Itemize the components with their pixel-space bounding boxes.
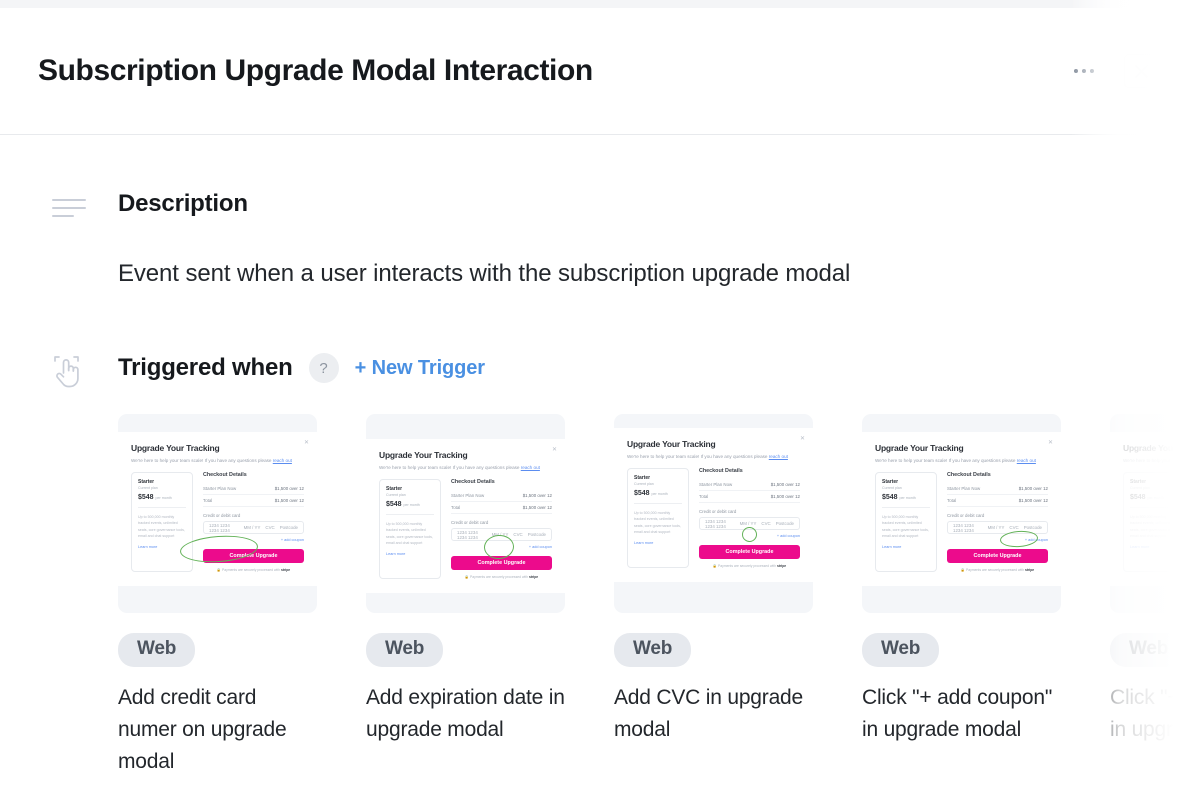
- plan-features: Up to 500,000 monthly tracked events, un…: [386, 521, 434, 546]
- thumbnail-modal-title: Upgrade Your Tracking: [131, 443, 304, 453]
- thumbnail-modal-subtitle: We're here to help your team scale! If y…: [627, 453, 800, 460]
- card-field: 1234 1234 1234 1234 MM / YY CVC Postcode: [451, 528, 552, 541]
- dot: [1082, 69, 1086, 73]
- card-field: 1234 1234 1234 1234 MM / YY CVC Postcode: [203, 521, 304, 534]
- header-actions: [1064, 54, 1158, 88]
- card-zip-input: Postcode: [528, 532, 546, 537]
- platform-badge: Web: [1110, 633, 1187, 667]
- help-icon[interactable]: ?: [309, 353, 339, 383]
- plan-price: $548 per month: [882, 494, 930, 501]
- thumbnail-modal-subtitle: We're here to help your team scale! If y…: [1123, 457, 1190, 464]
- stripe-footer-note: 🔒 Payments are securely processed with s…: [203, 568, 304, 572]
- trigger-thumbnail[interactable]: ✕ Upgrade Your Tracking We're here to he…: [862, 414, 1061, 613]
- checkout-heading: Checkout Details: [947, 472, 1048, 478]
- row-label: Starter Plan Now: [947, 486, 980, 491]
- row-label: Starter Plan Now: [451, 493, 484, 498]
- card-field-label: Credit or debit card: [947, 513, 1048, 518]
- plan-note: Current plan: [634, 482, 682, 486]
- add-coupon-link: + add coupon: [203, 538, 304, 542]
- plan-note: Current plan: [882, 486, 930, 490]
- row-value: $1,500 over 12: [523, 493, 552, 498]
- row-value: $1,500 over 12: [275, 498, 304, 503]
- ellipsis-icon[interactable]: [1064, 54, 1104, 88]
- card-number-input: 1234 1234 1234 1234: [457, 530, 487, 540]
- thumbnail-modal-title: Upgrade Your Tracking: [379, 450, 552, 460]
- description-text[interactable]: Event sent when a user interacts with th…: [118, 258, 1190, 290]
- plan-features: Up to 500,000 monthly tracked events, un…: [634, 510, 682, 535]
- card-cvc-input: CVC: [1009, 525, 1018, 530]
- thumbnail-plan-card: Starter Current plan $548 per month Up t…: [875, 472, 937, 572]
- checkout-row: Total$1,500 over 12: [203, 495, 304, 507]
- card-field-label: Credit or debit card: [451, 520, 552, 525]
- row-label: Starter Plan Now: [203, 486, 236, 491]
- card-exp-input: MM / YY: [740, 521, 757, 526]
- plan-features: Up to 500,000 monthly tracked events, un…: [882, 514, 930, 539]
- card-number-input: 1234 1234 1234 1234: [705, 519, 735, 529]
- reach-out-link: reach out: [769, 454, 788, 459]
- add-coupon-link: + add coupon: [451, 545, 552, 549]
- checkout-row: Total$1,500 over 12: [699, 491, 800, 503]
- thumbnail-close-icon: ✕: [800, 436, 805, 442]
- checkout-row: Starter Plan Now$1,500 over 12: [203, 483, 304, 495]
- card-cvc-input: CVC: [265, 525, 274, 530]
- checkout-row: Total$1,500 over 12: [947, 495, 1048, 507]
- window-top-strip: [0, 0, 1190, 8]
- trigger-card[interactable]: ✕ Upgrade Your Tracking We're here to he…: [614, 414, 813, 778]
- checkout-heading: Checkout Details: [203, 472, 304, 478]
- trigger-cards-row[interactable]: ✕ Upgrade Your Tracking We're here to he…: [118, 414, 1190, 778]
- line: [52, 215, 74, 217]
- checkout-heading: Checkout Details: [699, 468, 800, 474]
- trigger-thumbnail[interactable]: ✕ Upgrade Your Tracking We're here to he…: [118, 414, 317, 613]
- row-value: $1,500 over 12: [275, 486, 304, 491]
- row-value: $1,500 over 12: [523, 505, 552, 510]
- card-exp-input: MM / YY: [492, 532, 509, 537]
- stripe-footer-note: 🔒 Payments are securely processed with s…: [451, 575, 552, 579]
- close-button[interactable]: [1124, 54, 1158, 88]
- divider: [386, 514, 434, 515]
- row-label: Total: [203, 498, 212, 503]
- trigger-label: Click "+ add coupon" in upgrade modal: [862, 682, 1061, 746]
- row-label: Total: [699, 494, 708, 499]
- close-icon: [1134, 64, 1149, 79]
- plan-price: $548 per month: [634, 490, 682, 497]
- plan-price: $548 per month: [138, 494, 186, 501]
- triggers-heading-row: Triggered when ? + New Trigger: [118, 352, 1190, 384]
- line: [52, 199, 86, 201]
- reach-out-link: reach out: [521, 465, 540, 470]
- plan-features: Up to 500,000 monthly tracked events, un…: [1130, 514, 1178, 539]
- divider: [882, 507, 930, 508]
- plan-learn-more-link: Learn more: [138, 545, 186, 549]
- stripe-footer-note: 🔒 Payments are securely processed with s…: [947, 568, 1048, 572]
- trigger-card[interactable]: ✕ Upgrade Your Tracking We're here to he…: [862, 414, 1061, 778]
- thumbnail-modal-title: Upgrade Your Tracking: [627, 439, 800, 449]
- trigger-label: Add credit card numer on upgrade modal: [118, 682, 317, 778]
- page-title: Subscription Upgrade Modal Interaction: [38, 53, 1064, 89]
- checkout-row: Starter Plan Now$1,500 over 12: [699, 479, 800, 491]
- line: [52, 207, 86, 209]
- trigger-label: Add expiration date in upgrade modal: [366, 682, 565, 746]
- trigger-card[interactable]: ✕ Upgrade Your Tracking We're here to he…: [118, 414, 317, 778]
- thumbnail-modal-subtitle: We're here to help your team scale! If y…: [379, 464, 552, 471]
- complete-upgrade-button: Complete Upgrade: [203, 549, 304, 563]
- plan-features: Up to 500,000 monthly tracked events, un…: [138, 514, 186, 539]
- card-zip-input: Postcode: [280, 525, 298, 530]
- checkout-row: Starter Plan Now$1,500 over 12: [451, 490, 552, 502]
- plan-note: Current plan: [138, 486, 186, 490]
- description-section: Description Event sent when a user inter…: [0, 188, 1190, 290]
- description-heading: Description: [118, 188, 1190, 220]
- plan-learn-more-link: Learn more: [882, 545, 930, 549]
- reach-out-link: reach out: [1017, 458, 1036, 463]
- card-exp-input: MM / YY: [988, 525, 1005, 530]
- add-coupon-link: + add coupon: [699, 534, 800, 538]
- triggers-section: Triggered when ? + New Trigger ✕ Upgrade…: [0, 352, 1190, 778]
- new-trigger-button[interactable]: + New Trigger: [355, 357, 485, 380]
- thumbnail-modal-subtitle: We're here to help your team scale! If y…: [875, 457, 1048, 464]
- thumbnail-modal-subtitle: We're here to help your team scale! If y…: [131, 457, 304, 464]
- dot: [1074, 69, 1078, 73]
- plan-name: Starter: [386, 486, 434, 492]
- plan-name: Starter: [1130, 479, 1178, 485]
- complete-upgrade-button: Complete Upgrade: [947, 549, 1048, 563]
- plan-note: Current plan: [386, 493, 434, 497]
- triggers-heading: Triggered when: [118, 352, 293, 384]
- thumbnail-close-icon: ✕: [552, 447, 557, 453]
- checkout-row: Total$1,500 over 12: [451, 502, 552, 514]
- row-value: $1,500 over 12: [1019, 486, 1048, 491]
- divider: [634, 503, 682, 504]
- trigger-label: Click "+ add coupon" in upgrade modal: [1110, 682, 1190, 746]
- thumbnail-plan-card: Starter Current plan $548 per month Up t…: [1123, 472, 1185, 572]
- plan-note: Current plan: [1130, 486, 1178, 490]
- thumbnail-modal: ✕ Upgrade Your Tracking We're here to he…: [1110, 432, 1190, 586]
- card-field-label: Credit or debit card: [203, 513, 304, 518]
- trigger-card[interactable]: ✕ Upgrade Your Tracking We're here to he…: [366, 414, 565, 778]
- thumbnail-close-icon: ✕: [304, 440, 309, 446]
- row-label: Starter Plan Now: [699, 482, 732, 487]
- thumbnail-modal: ✕ Upgrade Your Tracking We're here to he…: [614, 428, 813, 582]
- row-label: Total: [947, 498, 956, 503]
- card-field-label: Credit or debit card: [699, 509, 800, 514]
- row-label: Total: [451, 505, 460, 510]
- plan-name: Starter: [634, 475, 682, 481]
- checkout-row: Starter Plan Now$1,500 over 12: [947, 483, 1048, 495]
- card-field: 1234 1234 1234 1234 MM / YY CVC Postcode: [699, 517, 800, 530]
- thumbnail-plan-card: Starter Current plan $548 per month Up t…: [379, 479, 441, 579]
- complete-upgrade-button: Complete Upgrade: [451, 556, 552, 570]
- platform-badge: Web: [366, 633, 443, 667]
- stripe-footer-note: 🔒 Payments are securely processed with s…: [699, 564, 800, 568]
- card-zip-input: Postcode: [776, 521, 794, 526]
- card-zip-input: Postcode: [1024, 525, 1042, 530]
- plan-learn-more-link: Learn more: [1130, 545, 1178, 549]
- trigger-detail-page: Subscription Upgrade Modal Interaction: [0, 0, 1190, 808]
- card-number-input: 1234 1234 1234 1234: [953, 523, 983, 533]
- row-value: $1,500 over 12: [771, 482, 800, 487]
- plan-price: $548 per month: [386, 501, 434, 508]
- card-field: 1234 1234 1234 1234 MM / YY CVC Postcode: [947, 521, 1048, 534]
- thumbnail-modal: ✕ Upgrade Your Tracking We're here to he…: [366, 439, 565, 593]
- thumbnail-modal: ✕ Upgrade Your Tracking We're here to he…: [862, 432, 1061, 586]
- trigger-thumbnail[interactable]: ✕ Upgrade Your Tracking We're here to he…: [366, 414, 565, 613]
- tap-hand-icon: [52, 352, 92, 392]
- description-lines-icon: [52, 188, 92, 228]
- dot: [1090, 69, 1094, 73]
- plan-price: $548 per month: [1130, 494, 1178, 501]
- card-exp-input: MM / YY: [244, 525, 261, 530]
- card-cvc-input: CVC: [761, 521, 770, 526]
- plan-name: Starter: [138, 479, 186, 485]
- row-value: $1,500 over 12: [1019, 498, 1048, 503]
- checkout-heading: Checkout Details: [451, 479, 552, 485]
- trigger-card[interactable]: ✕ Upgrade Your Tracking We're here to he…: [1110, 414, 1190, 778]
- add-coupon-link: + add coupon: [947, 538, 1048, 542]
- trigger-label: Add CVC in upgrade modal: [614, 682, 813, 746]
- plan-learn-more-link: Learn more: [634, 541, 682, 545]
- thumbnail-plan-card: Starter Current plan $548 per month Up t…: [627, 468, 689, 568]
- platform-badge: Web: [614, 633, 691, 667]
- reach-out-link: reach out: [273, 458, 292, 463]
- card-number-input: 1234 1234 1234 1234: [209, 523, 239, 533]
- trigger-thumbnail[interactable]: ✕ Upgrade Your Tracking We're here to he…: [614, 414, 813, 613]
- thumbnail-plan-card: Starter Current plan $548 per month Up t…: [131, 472, 193, 572]
- page-header: Subscription Upgrade Modal Interaction: [0, 8, 1190, 135]
- platform-badge: Web: [118, 633, 195, 667]
- thumbnail-modal-title: Upgrade Your Tracking: [1123, 443, 1190, 453]
- thumbnail-close-icon: ✕: [1048, 440, 1053, 446]
- divider: [1130, 507, 1178, 508]
- page-body: Description Event sent when a user inter…: [0, 136, 1190, 808]
- plan-name: Starter: [882, 479, 930, 485]
- trigger-thumbnail[interactable]: ✕ Upgrade Your Tracking We're here to he…: [1110, 414, 1190, 613]
- platform-badge: Web: [862, 633, 939, 667]
- plan-learn-more-link: Learn more: [386, 552, 434, 556]
- thumbnail-modal: ✕ Upgrade Your Tracking We're here to he…: [118, 432, 317, 586]
- complete-upgrade-button: Complete Upgrade: [699, 545, 800, 559]
- card-cvc-input: CVC: [513, 532, 522, 537]
- thumbnail-modal-title: Upgrade Your Tracking: [875, 443, 1048, 453]
- divider: [138, 507, 186, 508]
- row-value: $1,500 over 12: [771, 494, 800, 499]
